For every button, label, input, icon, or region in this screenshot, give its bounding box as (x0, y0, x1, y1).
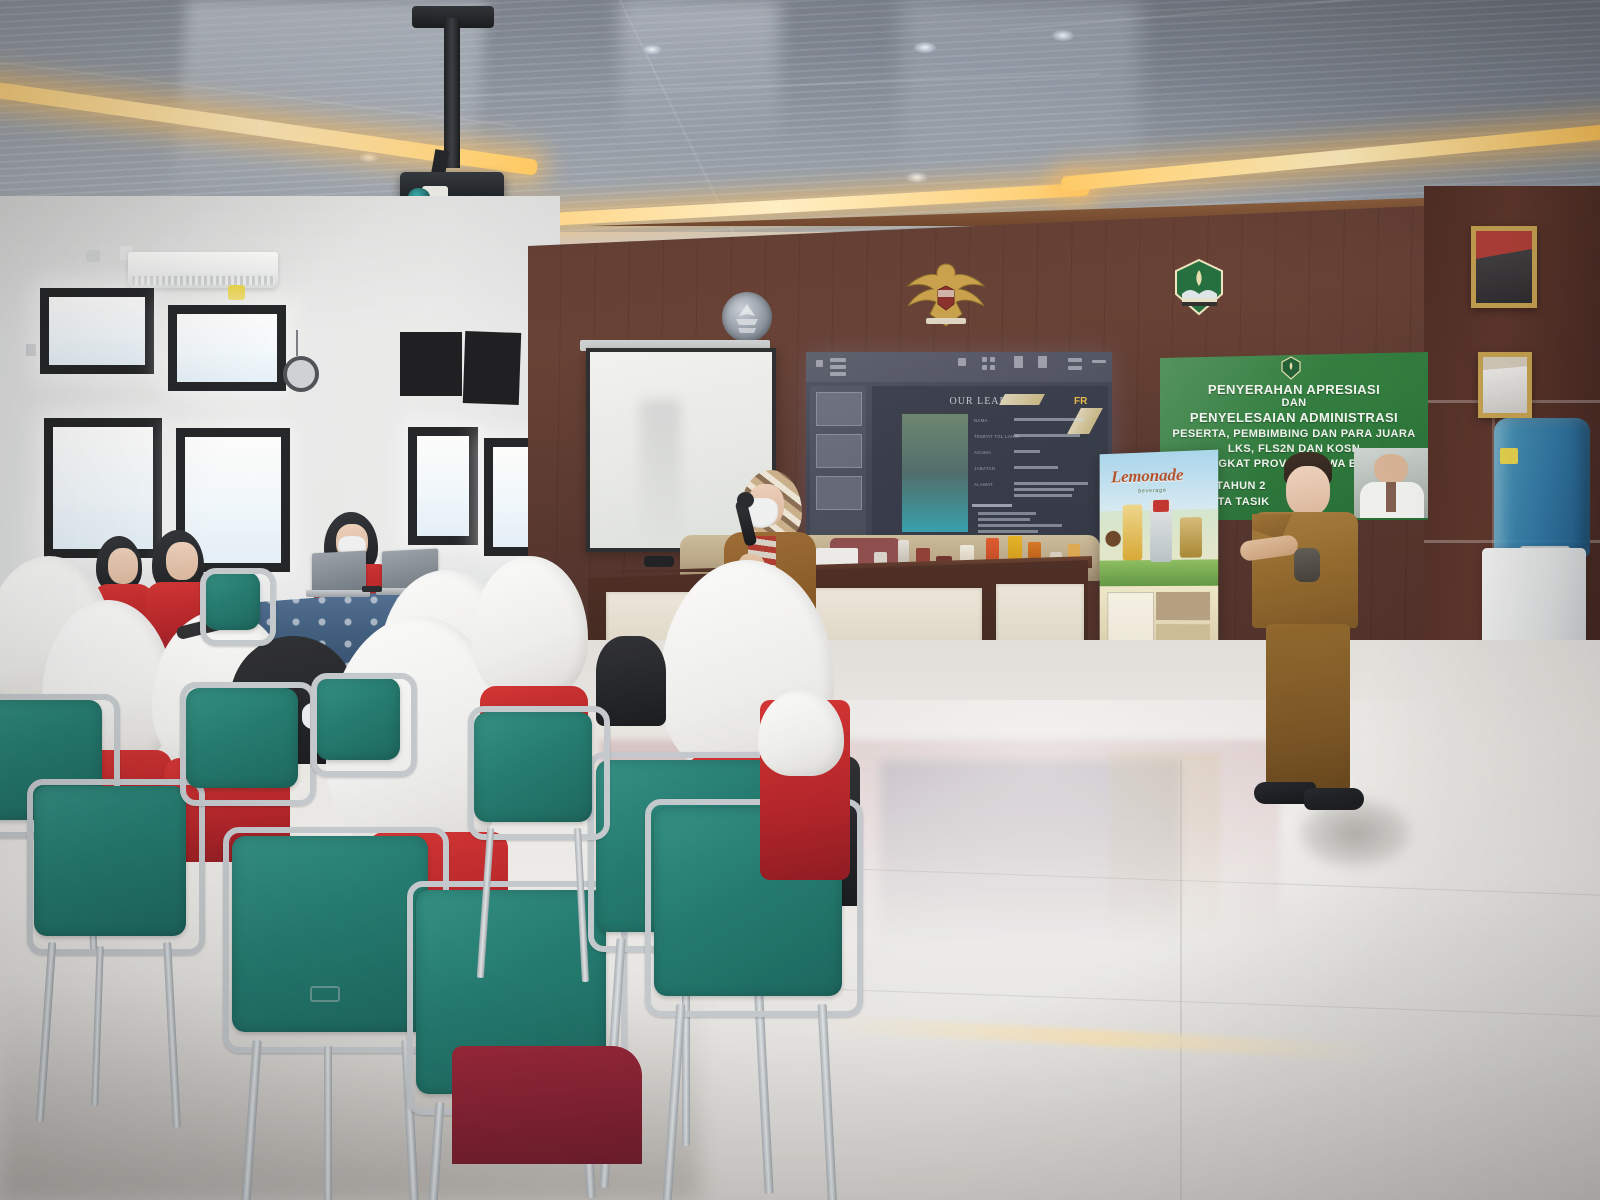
window-right-a (408, 427, 478, 545)
window-upper-left (40, 288, 154, 374)
screen-smudge (640, 400, 680, 540)
banner-line-3: PENYELESAIAN ADMINISTRASI (1166, 410, 1422, 425)
banner-line-2: DAN (1168, 397, 1420, 409)
slide-field-value (1014, 482, 1088, 485)
poster-subtitle: beverage (1138, 488, 1166, 495)
slide-field-value (1014, 494, 1072, 497)
yellow-wall-tag (228, 285, 245, 300)
official-holding-item (1294, 548, 1320, 582)
banner-photo (1354, 448, 1432, 518)
ppt-toolbar-icon (1014, 356, 1023, 368)
chair-brand-tag (310, 986, 340, 1002)
poster-bottle (1180, 517, 1202, 558)
ceiling-downlight (1052, 30, 1074, 41)
gallon-label (1500, 448, 1518, 464)
ppt-thumbnail (816, 434, 862, 468)
wall-dark-panel-a (400, 332, 462, 396)
official-portrait-upper (1471, 226, 1537, 308)
banner-photo-face (1374, 454, 1408, 484)
ppt-toolbar-icon (1092, 360, 1106, 363)
presenter-remote (644, 556, 674, 567)
west-java-province-emblem (1172, 258, 1226, 316)
wall-clock-icon (283, 356, 319, 392)
banner-line-1: PENYERAHAN APRESIASI (1168, 382, 1420, 397)
ppt-toolbar-icon (816, 360, 823, 367)
chair-frame (200, 568, 276, 646)
poster-bottle-cap (1153, 500, 1169, 512)
wall-dark-panel-b (463, 331, 521, 405)
ppt-toolbar-icon (1038, 356, 1047, 368)
wall-switch (26, 344, 36, 356)
ppt-toolbar-icon (990, 357, 995, 362)
official-shadow (1300, 800, 1410, 866)
banner-line-4: PESERTA, PEMBIMBING DAN PARA JUARA (1166, 428, 1422, 440)
chair-frame (180, 682, 316, 806)
chair-frame (311, 673, 417, 777)
slide-field-label: NAMA (974, 418, 988, 423)
ppt-thumbnail (816, 392, 862, 426)
ceiling-reflection (620, 0, 780, 150)
foreground-red-cushion (452, 1046, 642, 1164)
ceiling-downlight (641, 44, 663, 55)
ac-vent-louvers (132, 276, 274, 285)
window-upper-mid (168, 305, 286, 391)
slide-field-label: ALAMAT (974, 482, 993, 487)
student-face (166, 542, 198, 580)
slide-field-value (1014, 488, 1074, 491)
slide-field-label: AGAMA (974, 450, 991, 455)
floor-tile-line (1180, 760, 1182, 1200)
slide-bullet (978, 530, 1038, 533)
official-face (1286, 466, 1330, 516)
ppt-toolbar-icon (958, 358, 966, 366)
garuda-pancasila-emblem (900, 256, 992, 334)
projected-slide: OUR LEADER FR NAMA TEMPAT TGL LAHIR AGAM… (806, 352, 1112, 548)
poster-photo (1156, 592, 1210, 620)
clock-hook (296, 330, 298, 356)
ppt-toolbar-icon (990, 365, 995, 370)
slide-bullets-heading (972, 504, 1012, 507)
banner-photo-tie (1386, 482, 1396, 512)
slide-field-label: TEMPAT TGL LAHIR (974, 434, 1020, 439)
poster-bottle (1123, 504, 1142, 560)
ceiling-downlight (358, 152, 380, 163)
ceiling-downlight (914, 42, 936, 53)
chair-frame (468, 706, 610, 840)
slide-field-value (1014, 418, 1084, 421)
chair-leg (324, 1046, 332, 1200)
projector-mount-pole (444, 18, 460, 168)
slide-ribbon-shape (999, 394, 1045, 405)
water-gallon (1494, 418, 1590, 558)
window-lower-left (44, 418, 162, 558)
slide-corner-mark: FR (1074, 396, 1087, 407)
ppt-toolbar-icon (830, 365, 846, 369)
slide-field-value (1014, 466, 1058, 469)
chair-frame (27, 779, 205, 955)
student-face (108, 548, 138, 584)
hall-photo-scene: OUR LEADER FR NAMA TEMPAT TGL LAHIR AGAM… (0, 0, 1600, 1200)
slide-bullet (978, 524, 1062, 527)
slide-field-label: JABATAN (974, 466, 995, 471)
ppt-toolbar-icon (982, 365, 987, 370)
ppt-toolbar-icon (982, 357, 987, 362)
ppt-ribbon-bar (806, 352, 1112, 382)
microphone-head (737, 492, 754, 508)
slide-field-value (1014, 450, 1040, 453)
slide-bullet (978, 518, 1030, 521)
ppt-toolbar-icon (1068, 358, 1082, 362)
desk-item (362, 586, 382, 592)
west-java-emblem-icon (1280, 356, 1302, 380)
poster-brand-name: Lemonade (1111, 465, 1183, 487)
official-trousers (1266, 624, 1350, 792)
ceiling-downlight (906, 172, 928, 183)
ppt-toolbar-icon (830, 372, 846, 376)
tut-wuri-handayani-logo (722, 292, 772, 342)
ppt-thumbnail (816, 476, 862, 510)
poster-coconut (1105, 531, 1120, 547)
ppt-toolbar-icon (1068, 366, 1082, 370)
laptop-base (306, 590, 370, 597)
ppt-toolbar-icon (830, 358, 846, 362)
slide-photo (902, 414, 968, 532)
poster-grass-band (1100, 559, 1219, 586)
laptop-screen (312, 551, 366, 594)
slide-field-value (1014, 434, 1080, 437)
wall-fixture (86, 250, 100, 262)
official-portrait-lower (1478, 352, 1532, 418)
slide-bullet (978, 512, 1036, 515)
